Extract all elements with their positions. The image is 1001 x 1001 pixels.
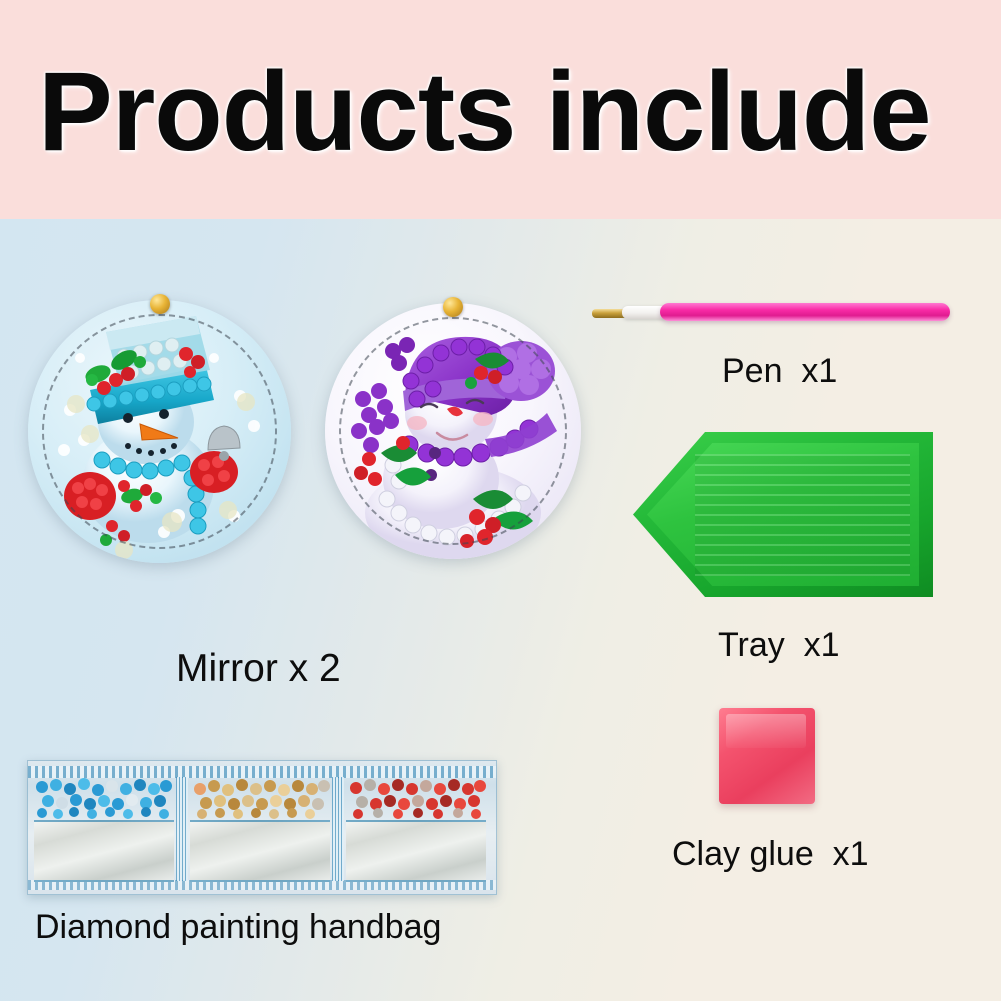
- rhinestones-red: [346, 777, 486, 819]
- bag-divider: [332, 777, 344, 881]
- hanger-bead-icon: [150, 294, 170, 314]
- clay-glue-square: [719, 708, 815, 804]
- tray-grooves: [695, 454, 910, 576]
- contents-panel: Mirror x 2 Pen x1 Tray x1 Clay glue x1 D…: [0, 219, 1001, 1001]
- pen-item[interactable]: [588, 296, 968, 336]
- gold-stone-cluster-icon: [190, 777, 330, 819]
- clay-glue-item[interactable]: [719, 708, 815, 804]
- label-bag: Diamond painting handbag: [35, 908, 441, 946]
- rhinestones-gold: [190, 777, 330, 819]
- bag-compartment-gold: [190, 777, 330, 881]
- foil-sachet: [346, 820, 486, 882]
- handbag-item[interactable]: [27, 760, 497, 895]
- glue-gloss-highlight: [726, 714, 806, 748]
- hanger-bead-icon: [443, 297, 463, 317]
- mirror-stitching: [339, 317, 567, 545]
- label-tray: Tray x1: [718, 626, 840, 664]
- tray-outer: [633, 432, 933, 597]
- label-pen: Pen x1: [722, 352, 837, 390]
- foil-sachet: [190, 820, 330, 882]
- product-infographic: Products include: [0, 0, 1001, 1001]
- bag-divider: [176, 777, 188, 881]
- bag-compartment-red: [346, 777, 486, 881]
- blue-stone-cluster-icon: [34, 777, 174, 819]
- mirror-item-purple-snowman[interactable]: [325, 303, 581, 559]
- zip-bag-body: [27, 760, 497, 895]
- page-title: Products include: [38, 56, 931, 168]
- tray-item[interactable]: [633, 432, 933, 597]
- pen-barrel: [660, 303, 950, 321]
- rhinestones-blue: [34, 777, 174, 819]
- header-band: Products include: [0, 0, 1001, 219]
- mirror-stitching: [42, 314, 276, 548]
- mirror-item-blue-snowman[interactable]: [28, 300, 291, 563]
- red-stone-cluster-icon: [346, 777, 486, 819]
- foil-sachet: [34, 820, 174, 882]
- bag-compartment-blue: [34, 777, 174, 881]
- label-glue: Clay glue x1: [672, 835, 869, 873]
- label-mirror: Mirror x 2: [176, 650, 341, 688]
